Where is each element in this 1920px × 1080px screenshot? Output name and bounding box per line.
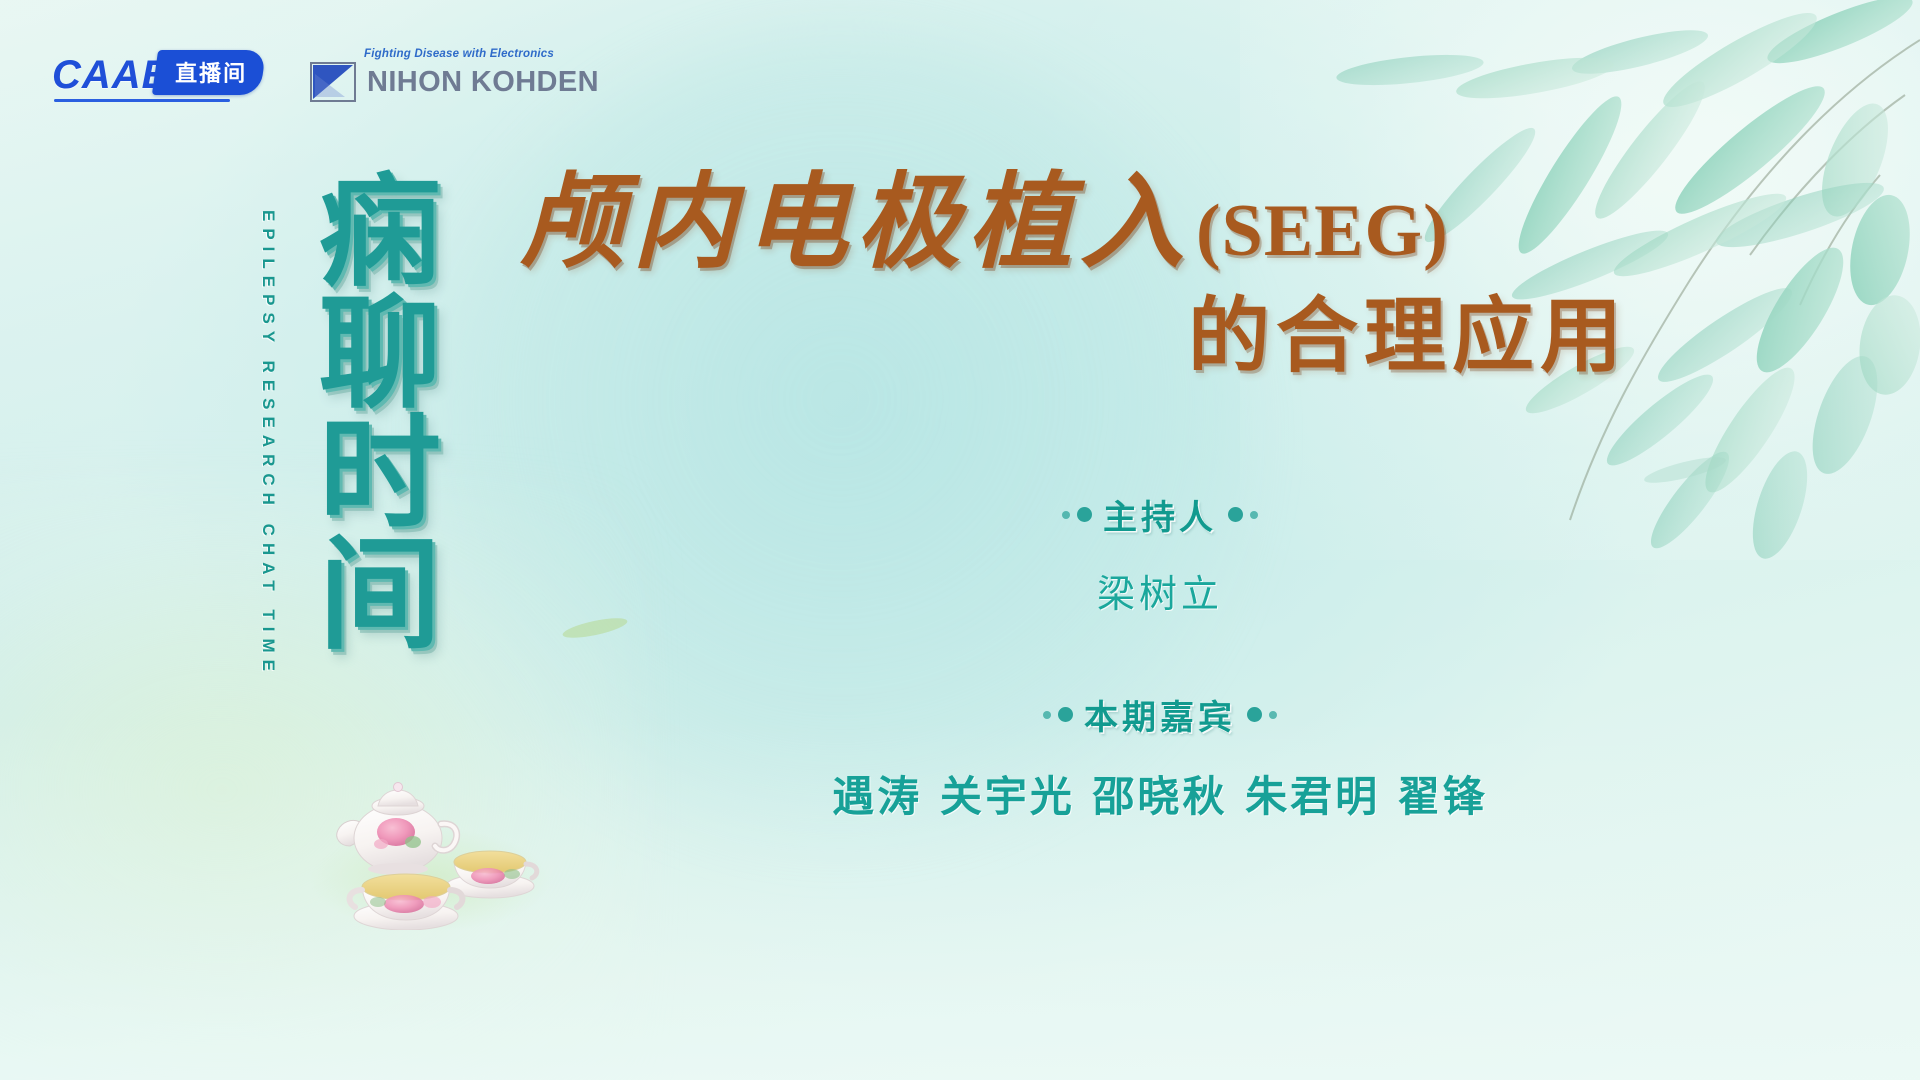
program-brand-vertical: 痫 聊 时 间 <box>300 176 460 653</box>
host-header: 主持人 <box>560 490 1760 539</box>
guests-dots-left-icon <box>1043 707 1073 722</box>
small-leaf-accent-icon-2 <box>1640 455 1730 490</box>
brand-char-3: 时 <box>319 417 441 532</box>
caae-underline <box>54 99 230 102</box>
host-dots-right-icon <box>1228 507 1258 522</box>
caae-live-room-label: 直播间 <box>175 56 247 88</box>
title-line2: 的合理应用 <box>520 296 1880 378</box>
title-line1-abbreviation: (SEEG) <box>1196 194 1449 274</box>
host-names: 梁树立 <box>560 563 1760 618</box>
host-dots-left-icon <box>1062 507 1092 522</box>
tea-set-icon <box>300 770 560 930</box>
caae-logo[interactable]: CAAE 直播间 <box>52 50 263 95</box>
nihon-kohden-name: NIHON KOHDEN <box>367 66 599 99</box>
brand-char-1: 痫 <box>319 176 441 291</box>
brand-char-2: 聊 <box>319 297 441 412</box>
guests-block: 本期嘉宾 遇涛 关宇光 邵晓秋 朱君明 翟锋 <box>560 690 1760 824</box>
nihon-kohden-mark-icon <box>310 62 356 102</box>
guests-dots-right-icon <box>1247 707 1277 722</box>
program-vertical-english-label: EPILEPSY RESEARCH CHAT TIME <box>258 210 278 730</box>
guests-label: 本期嘉宾 <box>1084 690 1236 739</box>
poster-canvas: CAAE 直播间 Fighting Disease with Electroni… <box>0 0 1920 1080</box>
host-label: 主持人 <box>1103 490 1217 539</box>
caae-live-room-badge[interactable]: 直播间 <box>152 50 266 95</box>
nihon-kohden-logo[interactable]: Fighting Disease with Electronics NIHON … <box>310 48 599 102</box>
title-line1-chinese: 颅内电极植入 <box>520 170 1192 274</box>
host-block: 主持人 梁树立 <box>560 490 1760 618</box>
participants-section: 主持人 梁树立 本期嘉宾 遇涛 关宇光 邵晓秋 朱君明 翟锋 <box>560 490 1760 824</box>
guests-header: 本期嘉宾 <box>560 690 1760 739</box>
guests-names: 遇涛 关宇光 邵晓秋 朱君明 翟锋 <box>560 763 1760 824</box>
main-title: 颅内电极植入 (SEEG) 的合理应用 <box>520 170 1880 378</box>
brand-char-4: 间 <box>319 538 441 653</box>
nihon-kohden-tagline: Fighting Disease with Electronics <box>364 48 599 60</box>
